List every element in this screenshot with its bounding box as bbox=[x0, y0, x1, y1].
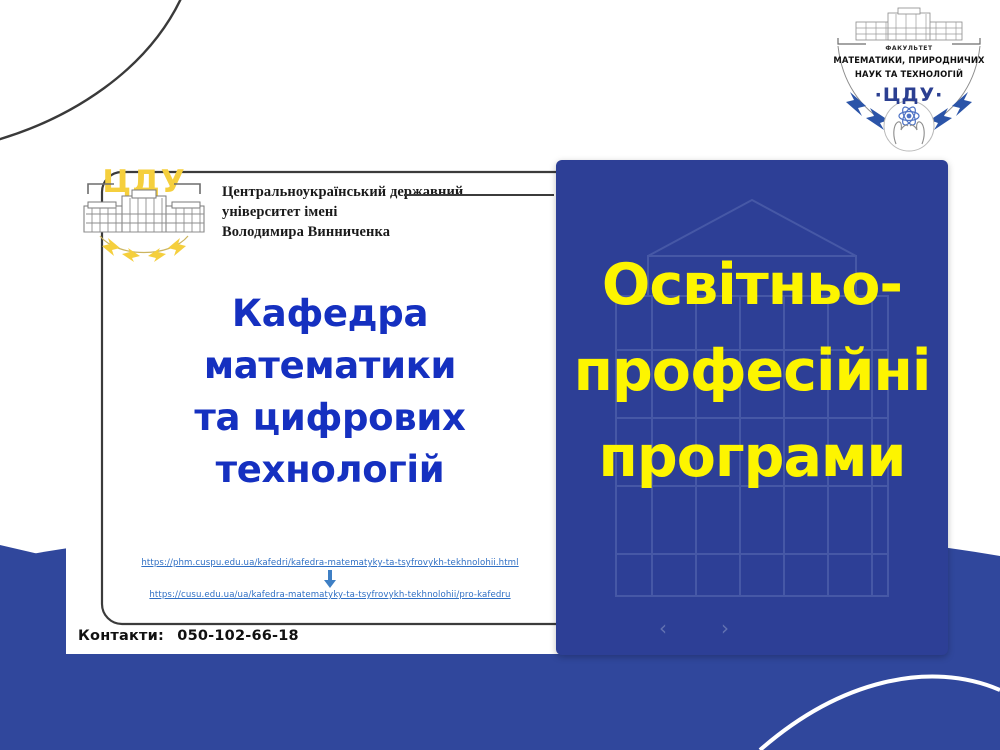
contacts-phone: 050-102-66-18 bbox=[177, 628, 299, 644]
department-title-line3: технологій bbox=[216, 448, 445, 491]
contacts-label: Контакти: bbox=[78, 628, 164, 644]
panel-title-line3: програми bbox=[599, 424, 906, 490]
faculty-emblem bbox=[826, 4, 992, 156]
chevron-right-icon[interactable]: › bbox=[712, 615, 738, 641]
university-name-line2: університет імені bbox=[222, 204, 337, 220]
university-name-line1: Центральноукраїнський державний bbox=[222, 184, 463, 200]
university-logo: ЦДУ bbox=[74, 162, 214, 262]
top-left-curve bbox=[0, 0, 184, 142]
department-primary-link[interactable]: https://phm.cuspu.edu.ua/kafedri/kafedra… bbox=[104, 558, 556, 568]
department-title-line1: Кафедра математики bbox=[204, 292, 456, 387]
university-name-rule bbox=[404, 194, 554, 196]
down-arrow-icon bbox=[323, 570, 337, 588]
university-name-line3: Володимира Винниченка bbox=[222, 224, 390, 240]
bottom-right-arc bbox=[760, 677, 1000, 750]
panel-title-line1: Освітньо- bbox=[602, 252, 902, 318]
slide-canvas: ЦДУ bbox=[0, 0, 1000, 750]
chevron-left-icon[interactable]: ‹ bbox=[650, 615, 676, 641]
panel-title: Освітньо- професійні програми bbox=[564, 242, 940, 500]
contacts-line: Контакти: 050-102-66-18 bbox=[78, 628, 299, 644]
university-name: Центральноукраїнський державний універси… bbox=[222, 182, 482, 242]
department-secondary-link[interactable]: https://cusu.edu.ua/ua/kafedra-matematyk… bbox=[104, 590, 556, 600]
panel-title-line2: професійні bbox=[574, 338, 931, 404]
programs-panel[interactable]: Освітньо- професійні програми ‹ › bbox=[556, 160, 948, 655]
department-title: Кафедра математики та цифрових технологі… bbox=[104, 288, 556, 496]
panel-navigation: ‹ › bbox=[556, 615, 948, 641]
link-group: https://phm.cuspu.edu.ua/kafedri/kafedra… bbox=[104, 558, 556, 600]
department-title-line2: та цифрових bbox=[194, 396, 465, 439]
